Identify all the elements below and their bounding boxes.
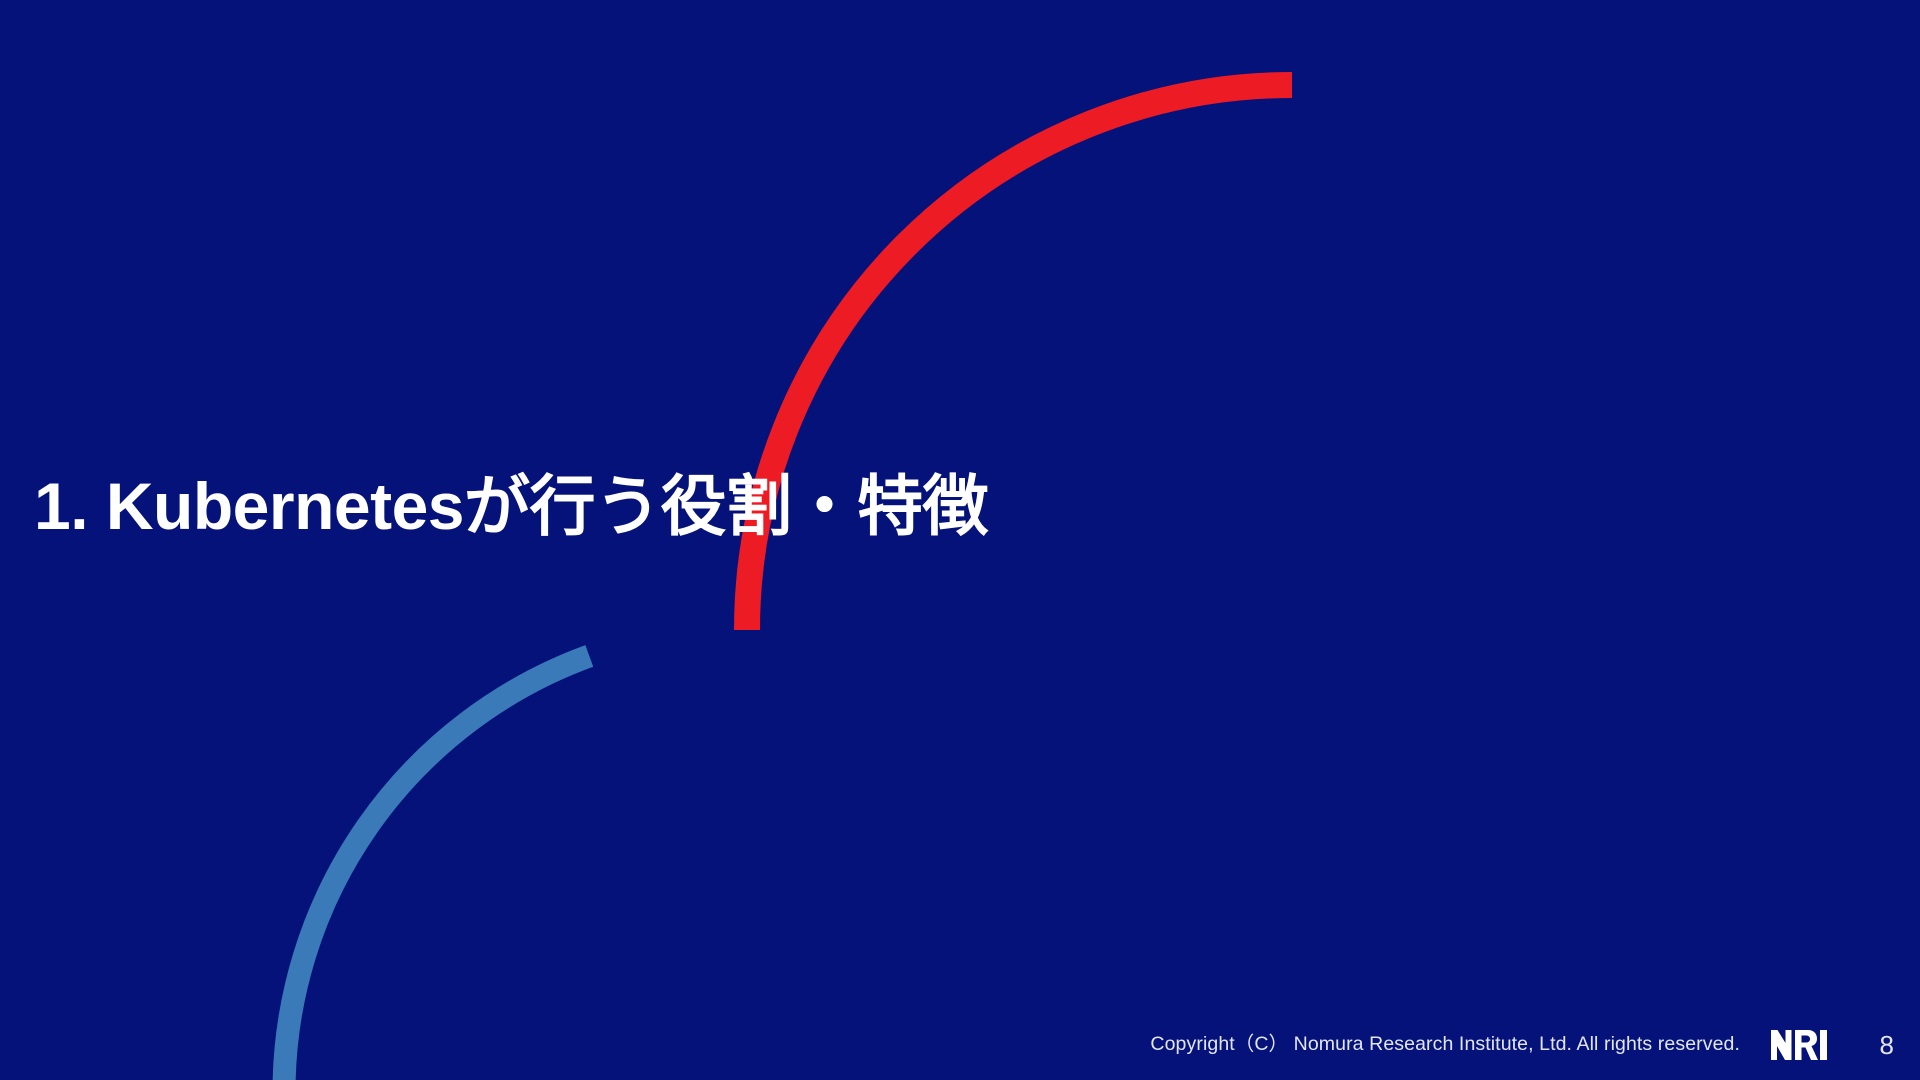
page-number: 8 (1874, 1032, 1894, 1058)
copyright-notice: Copyright（C） Nomura Research Institute, … (1150, 1035, 1740, 1055)
nri-logo-icon (1770, 1029, 1828, 1061)
red-quarter-arc-icon (747, 85, 1292, 630)
slide-footer: Copyright（C） Nomura Research Institute, … (0, 1010, 1920, 1080)
section-title: 1. Kubernetesが行う役割・特徴 (34, 468, 1134, 546)
slide-canvas: 1. Kubernetesが行う役割・特徴 Copyright（C） Nomur… (0, 0, 1920, 1080)
